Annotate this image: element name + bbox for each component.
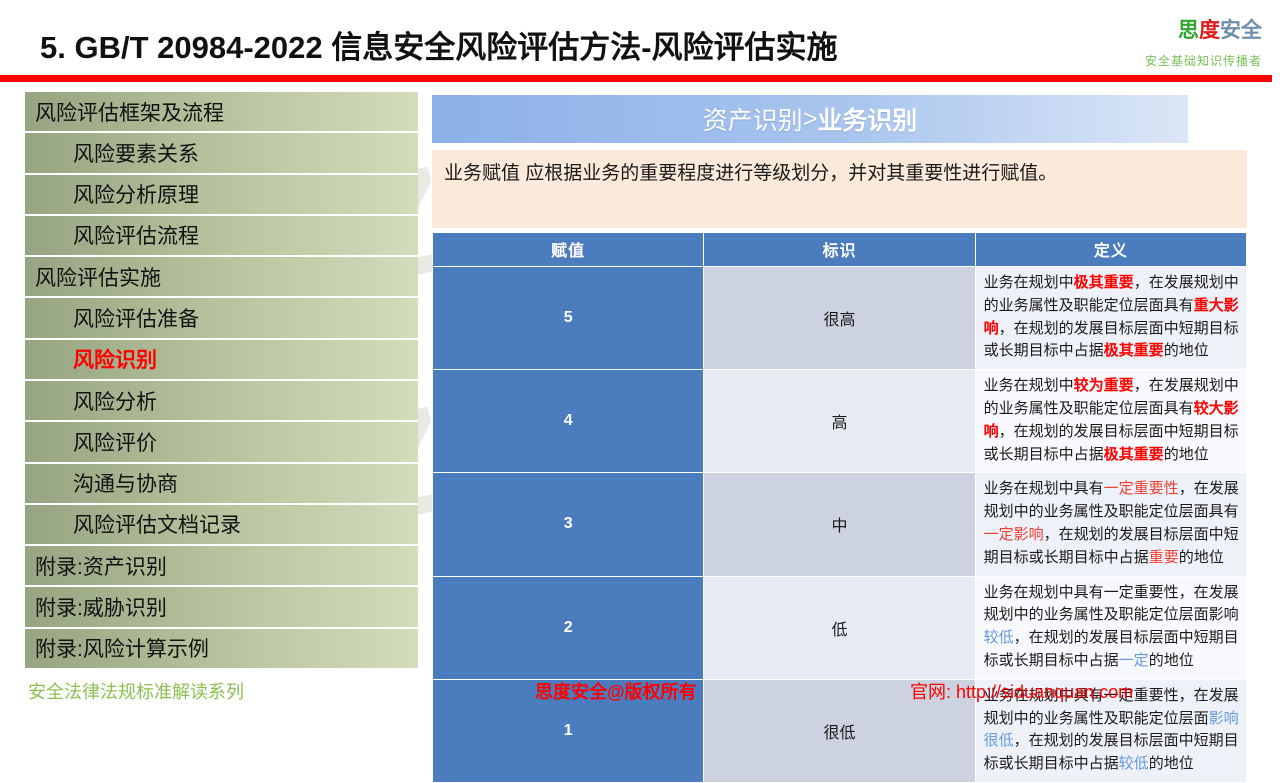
table-row: 2低业务在规划中具有一定重要性，在发展规划中的业务属性及职能定位层面影响较低，在… [433, 576, 1247, 679]
brand-word-1: 思 [1178, 19, 1199, 42]
definition-fragment: 一定影响 [984, 526, 1044, 543]
sidebar-item-12[interactable]: 附录:威胁识别 [25, 587, 418, 628]
breadcrumb-current: 业务识别 [817, 101, 917, 137]
sidebar-item-1[interactable]: 风险要素关系 [25, 133, 418, 174]
definition-fragment: ，在规划的发展目标层面中短期目标或长期目标中占据 [984, 629, 1239, 669]
sidebar-nav[interactable]: 风险评估框架及流程风险要素关系风险分析原理风险评估流程风险评估实施风险评估准备风… [25, 92, 418, 670]
cell-definition: 业务在规划中具有一定重要性，在发展规划中的业务属性及职能定位层面影响较低，在规划… [975, 576, 1246, 679]
sidebar-item-label: 风险评价 [73, 427, 157, 457]
definition-fragment: 业务在规划中 [984, 274, 1074, 291]
definition-fragment: 极其重要 [1104, 446, 1164, 463]
table-head: 赋值 标识 定义 [433, 233, 1247, 267]
definition-fragment: 一定 [1119, 652, 1149, 669]
page-title: 5. GB/T 20984-2022 信息安全风险评估方法-风险评估实施 [40, 22, 838, 67]
table-row: 5很高业务在规划中极其重要，在发展规划中的业务属性及职能定位层面具有重大影响，在… [433, 267, 1247, 370]
definition-fragment: 极其重要 [1074, 274, 1134, 291]
sidebar-item-13[interactable]: 附录:风险计算示例 [25, 629, 418, 670]
definition-fragment: 业务在规划中具有 [984, 480, 1104, 497]
cell-definition: 业务在规划中极其重要，在发展规划中的业务属性及职能定位层面具有重大影响，在规划的… [975, 267, 1246, 370]
footer-website-link[interactable]: 官网: http://siduanquan.com [910, 678, 1133, 704]
sidebar-item-9[interactable]: 沟通与协商 [25, 464, 418, 505]
sidebar-item-label: 风险评估准备 [73, 303, 199, 333]
definition-fragment: 的地位 [1149, 755, 1194, 772]
sidebar-item-label: 风险识别 [73, 344, 157, 374]
definition-fragment: 极其重要 [1104, 342, 1164, 359]
definition-fragment: 业务在规划中 [984, 377, 1074, 394]
sidebar-item-label: 附录:资产识别 [35, 551, 167, 581]
title-divider-rule [0, 75, 1272, 82]
breadcrumb: 资产识别 > 业务识别 [432, 95, 1188, 143]
cell-score: 5 [433, 267, 704, 370]
definition-fragment: ，在规划的发展目标层面中短期目标或长期目标中占据 [984, 732, 1239, 772]
definition-fragment: 较低 [1119, 755, 1149, 772]
sidebar-item-0[interactable]: 风险评估框架及流程 [25, 92, 418, 133]
content-area: 资产识别 > 业务识别 业务赋值 应根据业务的重要程度进行等级划分，并对其重要性… [432, 92, 1252, 672]
sidebar-item-11[interactable]: 附录:资产识别 [25, 546, 418, 587]
definition-fragment: 的地位 [1164, 446, 1209, 463]
sidebar-item-label: 风险分析原理 [73, 179, 199, 209]
sidebar-item-label: 风险评估实施 [35, 262, 161, 292]
breadcrumb-parent[interactable]: 资产识别 [703, 101, 803, 137]
column-header-label: 标识 [704, 233, 975, 267]
cell-score: 2 [433, 576, 704, 679]
sidebar-item-10[interactable]: 风险评估文档记录 [25, 505, 418, 546]
table-row: 3中业务在规划中具有一定重要性，在发展规划中的业务属性及职能定位层面具有一定影响… [433, 473, 1247, 576]
cell-definition: 业务在规划中较为重要，在发展规划中的业务属性及职能定位层面具有较大影响，在规划的… [975, 370, 1246, 473]
footer-copyright: 思度安全@版权所有 [535, 678, 697, 704]
table-row: 4高业务在规划中较为重要，在发展规划中的业务属性及职能定位层面具有较大影响，在规… [433, 370, 1247, 473]
cell-label: 高 [704, 370, 975, 473]
sidebar-item-label: 附录:风险计算示例 [35, 633, 209, 663]
cell-label: 低 [704, 576, 975, 679]
sidebar-item-3[interactable]: 风险评估流程 [25, 216, 418, 257]
sidebar-item-label: 风险分析 [73, 386, 157, 416]
definition-fragment: 的地位 [1164, 342, 1209, 359]
cell-definition: 业务在规划中具有一定重要性，在发展规划中的业务属性及职能定位层面具有一定影响，在… [975, 473, 1246, 576]
sidebar-item-6[interactable]: 风险识别 [25, 340, 418, 381]
brand-word-3: 安全 [1220, 19, 1262, 42]
definition-fragment: 较低 [984, 629, 1014, 646]
column-header-score: 赋值 [433, 233, 704, 267]
sidebar-item-label: 沟通与协商 [73, 468, 178, 498]
sidebar-item-5[interactable]: 风险评估准备 [25, 298, 418, 339]
definition-fragment: 一定重要性 [1104, 480, 1179, 497]
sidebar-item-4[interactable]: 风险评估实施 [25, 257, 418, 298]
cell-score: 3 [433, 473, 704, 576]
definition-fragment: 业务在规划中具有一定重要性，在发展规划中的业务属性及职能定位层面影响 [984, 584, 1239, 624]
sidebar-item-label: 附录:威胁识别 [35, 592, 167, 622]
brand-tagline: 安全基础知识传播者 [1145, 52, 1262, 69]
sidebar-item-label: 风险要素关系 [73, 138, 199, 168]
sidebar-item-label: 风险评估文档记录 [73, 509, 241, 539]
sidebar-item-label: 风险评估框架及流程 [35, 97, 224, 127]
sidebar-item-7[interactable]: 风险分析 [25, 381, 418, 422]
column-header-definition: 定义 [975, 233, 1246, 267]
breadcrumb-separator: > [803, 105, 818, 134]
sidebar-item-label: 风险评估流程 [73, 220, 199, 250]
brand-word-2: 度 [1199, 19, 1220, 42]
definition-fragment: 较为重要 [1074, 377, 1134, 394]
cell-score: 4 [433, 370, 704, 473]
definition-fragment: 的地位 [1179, 549, 1224, 566]
cell-label: 中 [704, 473, 975, 576]
sidebar-item-2[interactable]: 风险分析原理 [25, 175, 418, 216]
definition-fragment: 的地位 [1149, 652, 1194, 669]
footer: 安全法律法规标准解读系列 思度安全@版权所有 官网: http://siduan… [0, 672, 1280, 720]
table-header-row: 赋值 标识 定义 [433, 233, 1247, 267]
footer-series-label: 安全法律法规标准解读系列 [28, 678, 244, 704]
brand-logo: 思度安全 [1178, 20, 1262, 41]
sidebar-item-8[interactable]: 风险评价 [25, 422, 418, 463]
definition-fragment: 重要 [1149, 549, 1179, 566]
cell-label: 很高 [704, 267, 975, 370]
info-callout: 业务赋值 应根据业务的重要程度进行等级划分，并对其重要性进行赋值。 [432, 150, 1247, 228]
